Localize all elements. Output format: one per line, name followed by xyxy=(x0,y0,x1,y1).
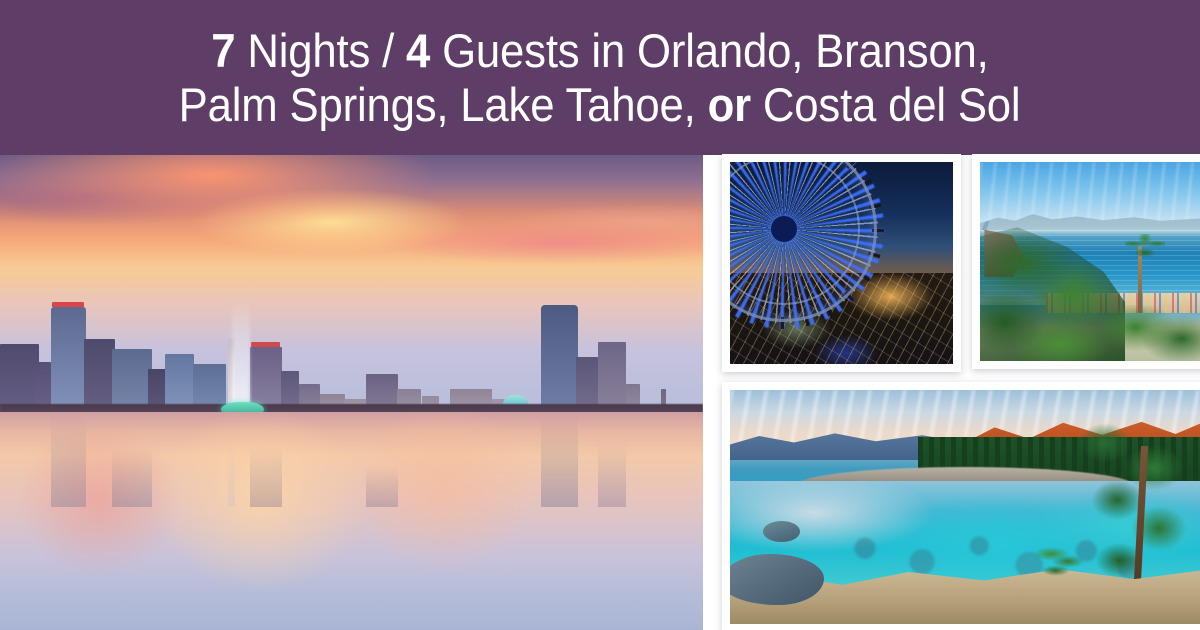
headline-line-2: Palm Springs, Lake Tahoe, or Costa del S… xyxy=(179,78,1021,132)
costa-foreground-foliage xyxy=(1090,305,1200,361)
photo-frame-costa-del-sol xyxy=(972,154,1200,369)
photo-frame-branson xyxy=(722,154,961,372)
costa-del-sol-photo xyxy=(980,162,1200,361)
branson-wheel-hub xyxy=(771,216,797,242)
orlando-reflection xyxy=(0,412,703,507)
headline-or: or xyxy=(708,78,751,131)
photo-gallery xyxy=(0,155,1200,630)
headline-line-1-text-b: Guests in Orlando, Branson, xyxy=(430,24,988,77)
guests-count: 4 xyxy=(406,24,430,77)
headline-banner: 7 Nights / 4 Guests in Orlando, Branson,… xyxy=(0,0,1200,155)
nights-count: 7 xyxy=(211,24,235,77)
branson-ferris-wheel-photo xyxy=(730,162,953,364)
tahoe-left-rock xyxy=(730,554,824,605)
promo-card: 7 Nights / 4 Guests in Orlando, Branson,… xyxy=(0,0,1200,630)
headline-line-1-text-a: Nights / xyxy=(235,24,406,77)
orlando-skyline-photo xyxy=(0,155,703,630)
costa-sky xyxy=(980,162,1200,222)
tahoe-small-pine xyxy=(1031,544,1087,581)
headline-line-2-text-b: Costa del Sol xyxy=(751,78,1021,131)
lake-tahoe-photo xyxy=(730,390,1200,624)
headline-line-1: 7 Nights / 4 Guests in Orlando, Branson, xyxy=(211,24,988,78)
photo-frame-lake-tahoe xyxy=(722,382,1200,630)
orlando-fountain-spray xyxy=(232,298,250,412)
costa-palm-fronds xyxy=(1125,234,1165,258)
photo-frame-orlando xyxy=(0,155,703,630)
headline-line-2-text-a: Palm Springs, Lake Tahoe, xyxy=(179,78,708,131)
